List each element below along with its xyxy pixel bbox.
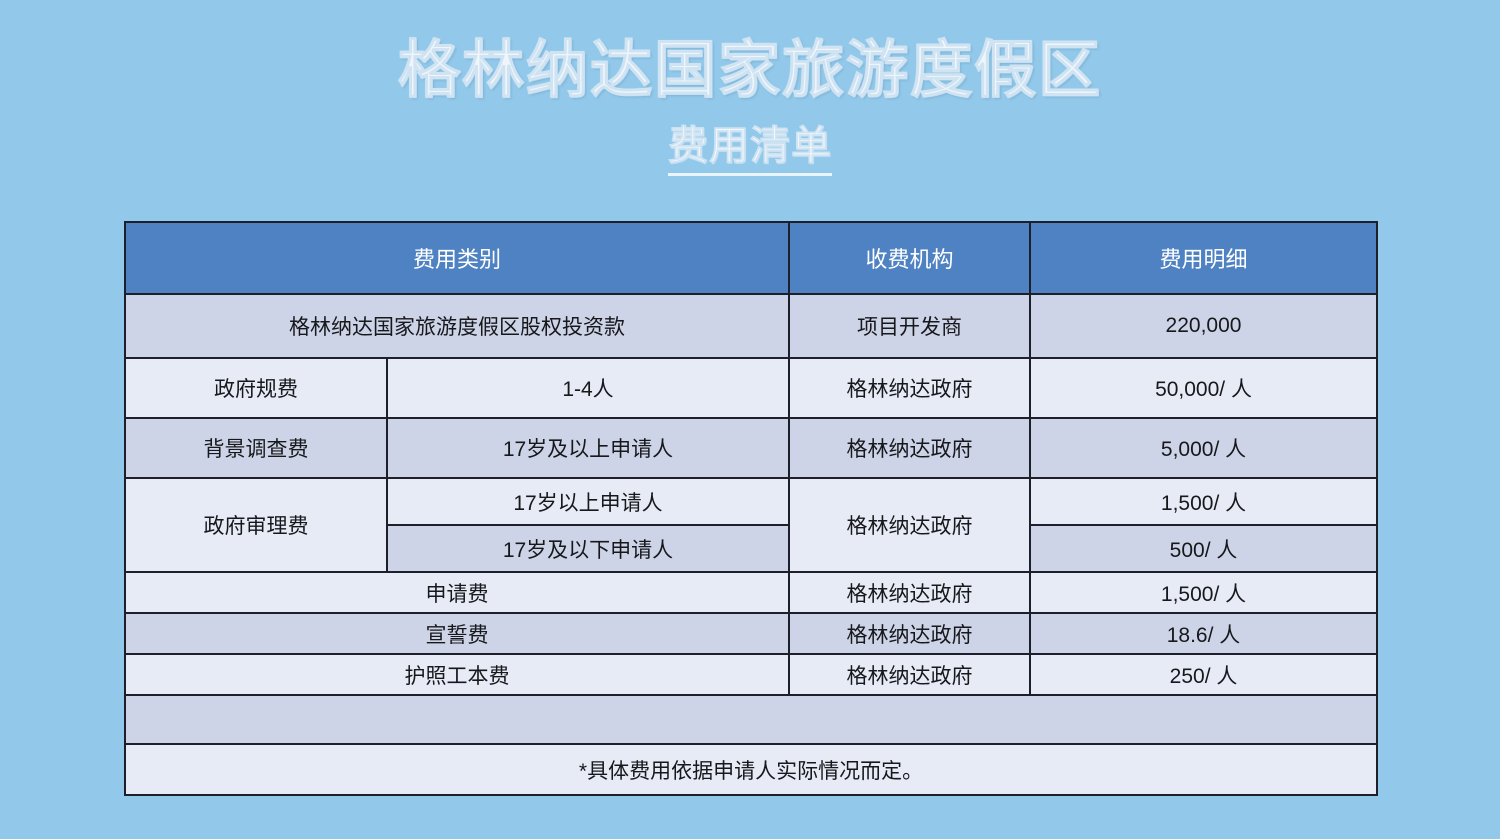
table-header-row: 费用类别 收费机构 费用明细 bbox=[125, 222, 1377, 294]
table-row: 背景调查费 17岁及以上申请人 格林纳达政府 5,000/ 人 bbox=[125, 418, 1377, 478]
cell-agency: 项目开发商 bbox=[789, 294, 1030, 358]
cell-amount: 1,500/ 人 bbox=[1030, 572, 1377, 613]
cell-detail: 17岁及以下申请人 bbox=[387, 525, 789, 572]
table-row: 宣誓费 格林纳达政府 18.6/ 人 bbox=[125, 613, 1377, 654]
cell-category: 政府规费 bbox=[125, 358, 387, 418]
cell-category: 背景调查费 bbox=[125, 418, 387, 478]
cell-amount: 220,000 bbox=[1030, 294, 1377, 358]
cell-amount: 18.6/ 人 bbox=[1030, 613, 1377, 654]
cell-agency: 格林纳达政府 bbox=[789, 478, 1030, 572]
table-row-blank bbox=[125, 695, 1377, 744]
table-body: 格林纳达国家旅游度假区股权投资款 项目开发商 220,000 政府规费 1-4人… bbox=[125, 294, 1377, 795]
column-header-category: 费用类别 bbox=[125, 222, 789, 294]
cell-agency: 格林纳达政府 bbox=[789, 613, 1030, 654]
page-subtitle: 费用清单 bbox=[668, 113, 832, 176]
fee-schedule-page: 格林纳达国家旅游度假区 费用清单 费用类别 收费机构 费用明细 格林纳达国家旅游… bbox=[0, 0, 1500, 839]
cell-category: 宣誓费 bbox=[125, 613, 789, 654]
table-row: 政府规费 1-4人 格林纳达政府 50,000/ 人 bbox=[125, 358, 1377, 418]
cell-amount: 500/ 人 bbox=[1030, 525, 1377, 572]
cell-agency: 格林纳达政府 bbox=[789, 654, 1030, 695]
title-block: 格林纳达国家旅游度假区 费用清单 bbox=[0, 38, 1500, 176]
subtitle-wrap: 费用清单 bbox=[0, 113, 1500, 176]
page-title: 格林纳达国家旅游度假区 bbox=[0, 38, 1500, 103]
cell-category: 申请费 bbox=[125, 572, 789, 613]
cell-category: 政府审理费 bbox=[125, 478, 387, 572]
cell-agency: 格林纳达政府 bbox=[789, 358, 1030, 418]
cell-amount: 250/ 人 bbox=[1030, 654, 1377, 695]
cell-amount: 1,500/ 人 bbox=[1030, 478, 1377, 525]
cell-category: 护照工本费 bbox=[125, 654, 789, 695]
fee-table: 费用类别 收费机构 费用明细 格林纳达国家旅游度假区股权投资款 项目开发商 22… bbox=[124, 221, 1378, 796]
table-row: 护照工本费 格林纳达政府 250/ 人 bbox=[125, 654, 1377, 695]
column-header-agency: 收费机构 bbox=[789, 222, 1030, 294]
cell-detail: 1-4人 bbox=[387, 358, 789, 418]
cell-detail: 17岁及以上申请人 bbox=[387, 418, 789, 478]
table-row: 格林纳达国家旅游度假区股权投资款 项目开发商 220,000 bbox=[125, 294, 1377, 358]
cell-agency: 格林纳达政府 bbox=[789, 572, 1030, 613]
footnote-text: *具体费用依据申请人实际情况而定。 bbox=[125, 744, 1377, 795]
column-header-amount: 费用明细 bbox=[1030, 222, 1377, 294]
cell-category: 格林纳达国家旅游度假区股权投资款 bbox=[125, 294, 789, 358]
table-row: 申请费 格林纳达政府 1,500/ 人 bbox=[125, 572, 1377, 613]
table-header: 费用类别 收费机构 费用明细 bbox=[125, 222, 1377, 294]
table-row: 政府审理费 17岁以上申请人 格林纳达政府 1,500/ 人 bbox=[125, 478, 1377, 525]
cell-agency: 格林纳达政府 bbox=[789, 418, 1030, 478]
cell-blank bbox=[125, 695, 1377, 744]
cell-amount: 50,000/ 人 bbox=[1030, 358, 1377, 418]
table-row-footnote: *具体费用依据申请人实际情况而定。 bbox=[125, 744, 1377, 795]
fee-table-wrapper: 费用类别 收费机构 费用明细 格林纳达国家旅游度假区股权投资款 项目开发商 22… bbox=[124, 221, 1376, 796]
cell-detail: 17岁以上申请人 bbox=[387, 478, 789, 525]
cell-amount: 5,000/ 人 bbox=[1030, 418, 1377, 478]
